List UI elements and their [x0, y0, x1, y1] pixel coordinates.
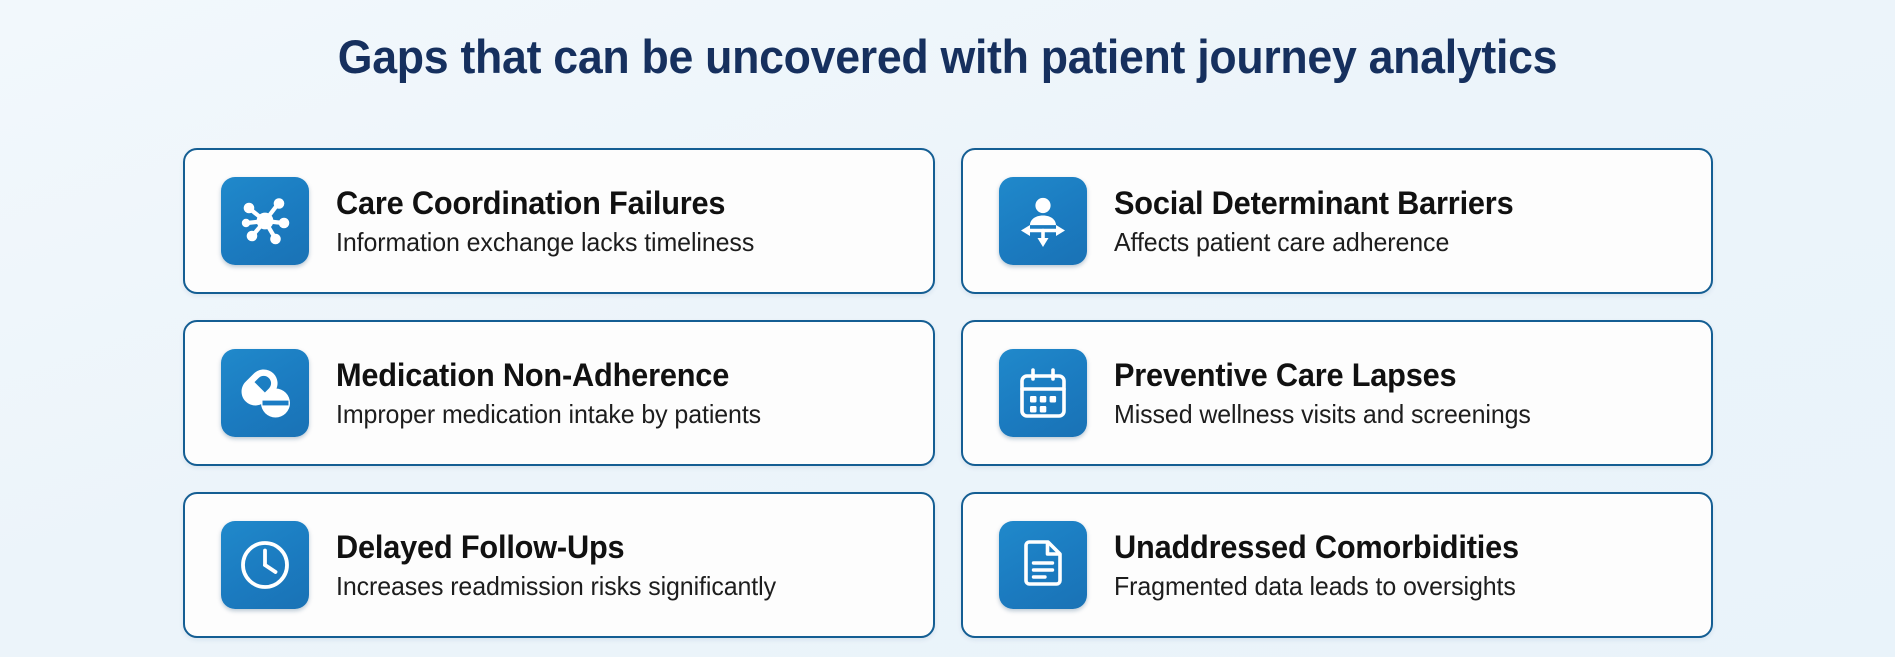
- card-text-block: Delayed Follow-Ups Increases readmission…: [336, 527, 794, 603]
- gap-card-care-coordination-failures[interactable]: Care Coordination Failures Information e…: [183, 148, 935, 294]
- document-icon: [999, 521, 1087, 609]
- card-title: Medication Non-Adherence: [336, 355, 761, 395]
- card-title: Social Determinant Barriers: [1114, 183, 1513, 223]
- gap-card-grid: Care Coordination Failures Information e…: [183, 148, 1713, 638]
- card-text-block: Medication Non-Adherence Improper medica…: [336, 355, 779, 431]
- card-subtitle: Missed wellness visits and screenings: [1114, 397, 1531, 431]
- gap-card-medication-non-adherence[interactable]: Medication Non-Adherence Improper medica…: [183, 320, 935, 466]
- gap-card-unaddressed-comorbidities[interactable]: Unaddressed Comorbidities Fragmented dat…: [961, 492, 1713, 638]
- gap-card-delayed-follow-ups[interactable]: Delayed Follow-Ups Increases readmission…: [183, 492, 935, 638]
- gap-card-preventive-care-lapses[interactable]: Preventive Care Lapses Missed wellness v…: [961, 320, 1713, 466]
- pills-icon: [221, 349, 309, 437]
- page-title: Gaps that can be uncovered with patient …: [47, 28, 1847, 86]
- card-text-block: Preventive Care Lapses Missed wellness v…: [1114, 355, 1548, 431]
- card-text-block: Care Coordination Failures Information e…: [336, 183, 772, 259]
- card-subtitle: Improper medication intake by patients: [336, 397, 761, 431]
- card-subtitle: Affects patient care adherence: [1114, 225, 1513, 259]
- person-arrows-icon: [999, 177, 1087, 265]
- card-title: Unaddressed Comorbidities: [1114, 527, 1519, 567]
- card-text-block: Unaddressed Comorbidities Fragmented dat…: [1114, 527, 1536, 603]
- gap-card-social-determinant-barriers[interactable]: Social Determinant Barriers Affects pati…: [961, 148, 1713, 294]
- network-hub-icon: [221, 177, 309, 265]
- card-title: Preventive Care Lapses: [1114, 355, 1531, 395]
- card-title: Care Coordination Failures: [336, 183, 754, 223]
- card-subtitle: Fragmented data leads to oversights: [1114, 569, 1519, 603]
- calendar-icon: [999, 349, 1087, 437]
- card-title: Delayed Follow-Ups: [336, 527, 776, 567]
- card-subtitle: Information exchange lacks timeliness: [336, 225, 754, 259]
- card-text-block: Social Determinant Barriers Affects pati…: [1114, 183, 1530, 259]
- infographic-root: Gaps that can be uncovered with patient …: [0, 0, 1895, 657]
- clock-icon: [221, 521, 309, 609]
- card-subtitle: Increases readmission risks significantl…: [336, 569, 776, 603]
